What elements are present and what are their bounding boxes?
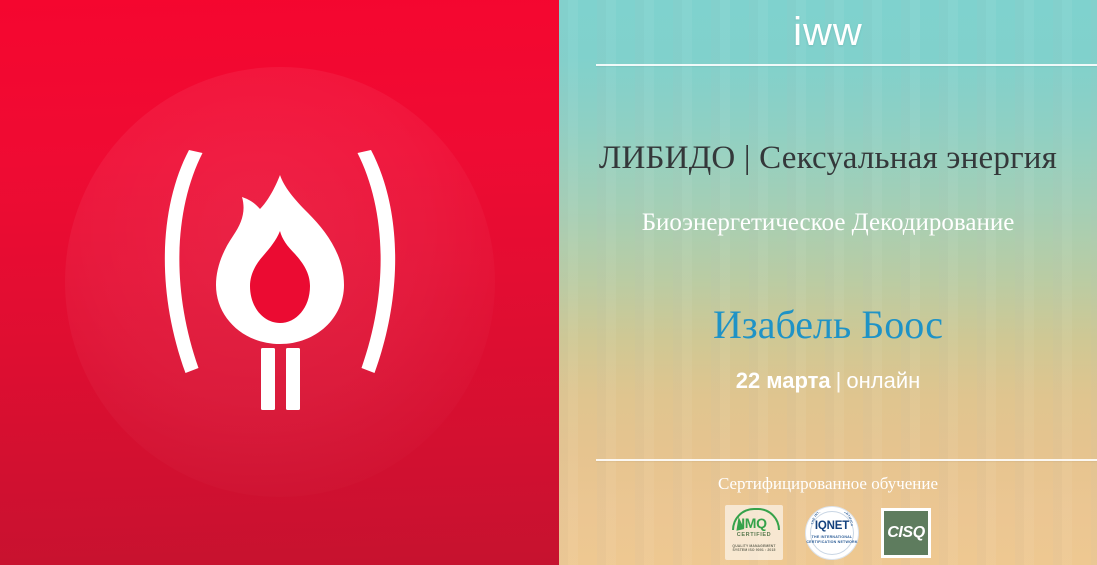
event-date: 22 марта	[736, 368, 831, 393]
imq-certification-icon: IMQ CERTIFIED QUALITY MANAGEMENT SYSTEM …	[725, 505, 783, 560]
imq-label: IMQ	[741, 516, 767, 530]
imq-certified-label: CERTIFIED	[737, 533, 771, 539]
iqnet-certification-icon: THE INTERNATIONAL CERTIFICATION NETWORK …	[805, 506, 859, 560]
event-separator: |	[831, 368, 847, 393]
iww-brand-logo: iww	[559, 12, 1097, 52]
cisq-label: CISQ	[887, 525, 925, 541]
page-title: ЛИБИДО | Сексуальная энергия	[559, 140, 1097, 177]
certification-logos: IMQ CERTIFIED QUALITY MANAGEMENT SYSTEM …	[559, 505, 1097, 560]
cisq-certification-icon: CISQ	[881, 508, 931, 558]
certification-caption: Сертифицированное обучение	[559, 474, 1097, 494]
imq-microtext: QUALITY MANAGEMENT SYSTEM ISO 9001 : 201…	[727, 544, 781, 554]
flame-in-parentheses-icon	[130, 135, 430, 435]
event-meta: 22 марта|онлайн	[559, 368, 1097, 393]
left-brand-panel	[0, 0, 559, 565]
right-info-panel: iww ЛИБИДО | Сексуальная энергия Биоэнер…	[559, 0, 1097, 565]
divider-top	[596, 64, 1097, 66]
iqnet-subtext: THE INTERNATIONAL CERTIFICATION NETWORK	[806, 535, 858, 546]
event-mode: онлайн	[846, 368, 920, 393]
promotional-banner: iww ЛИБИДО | Сексуальная энергия Биоэнер…	[0, 0, 1097, 565]
iqnet-label: IQNET	[815, 521, 849, 533]
divider-bottom	[596, 459, 1097, 461]
speaker-name: Изабель Боос	[559, 303, 1097, 347]
page-subtitle: Биоэнергетическое Декодирование	[559, 209, 1097, 238]
